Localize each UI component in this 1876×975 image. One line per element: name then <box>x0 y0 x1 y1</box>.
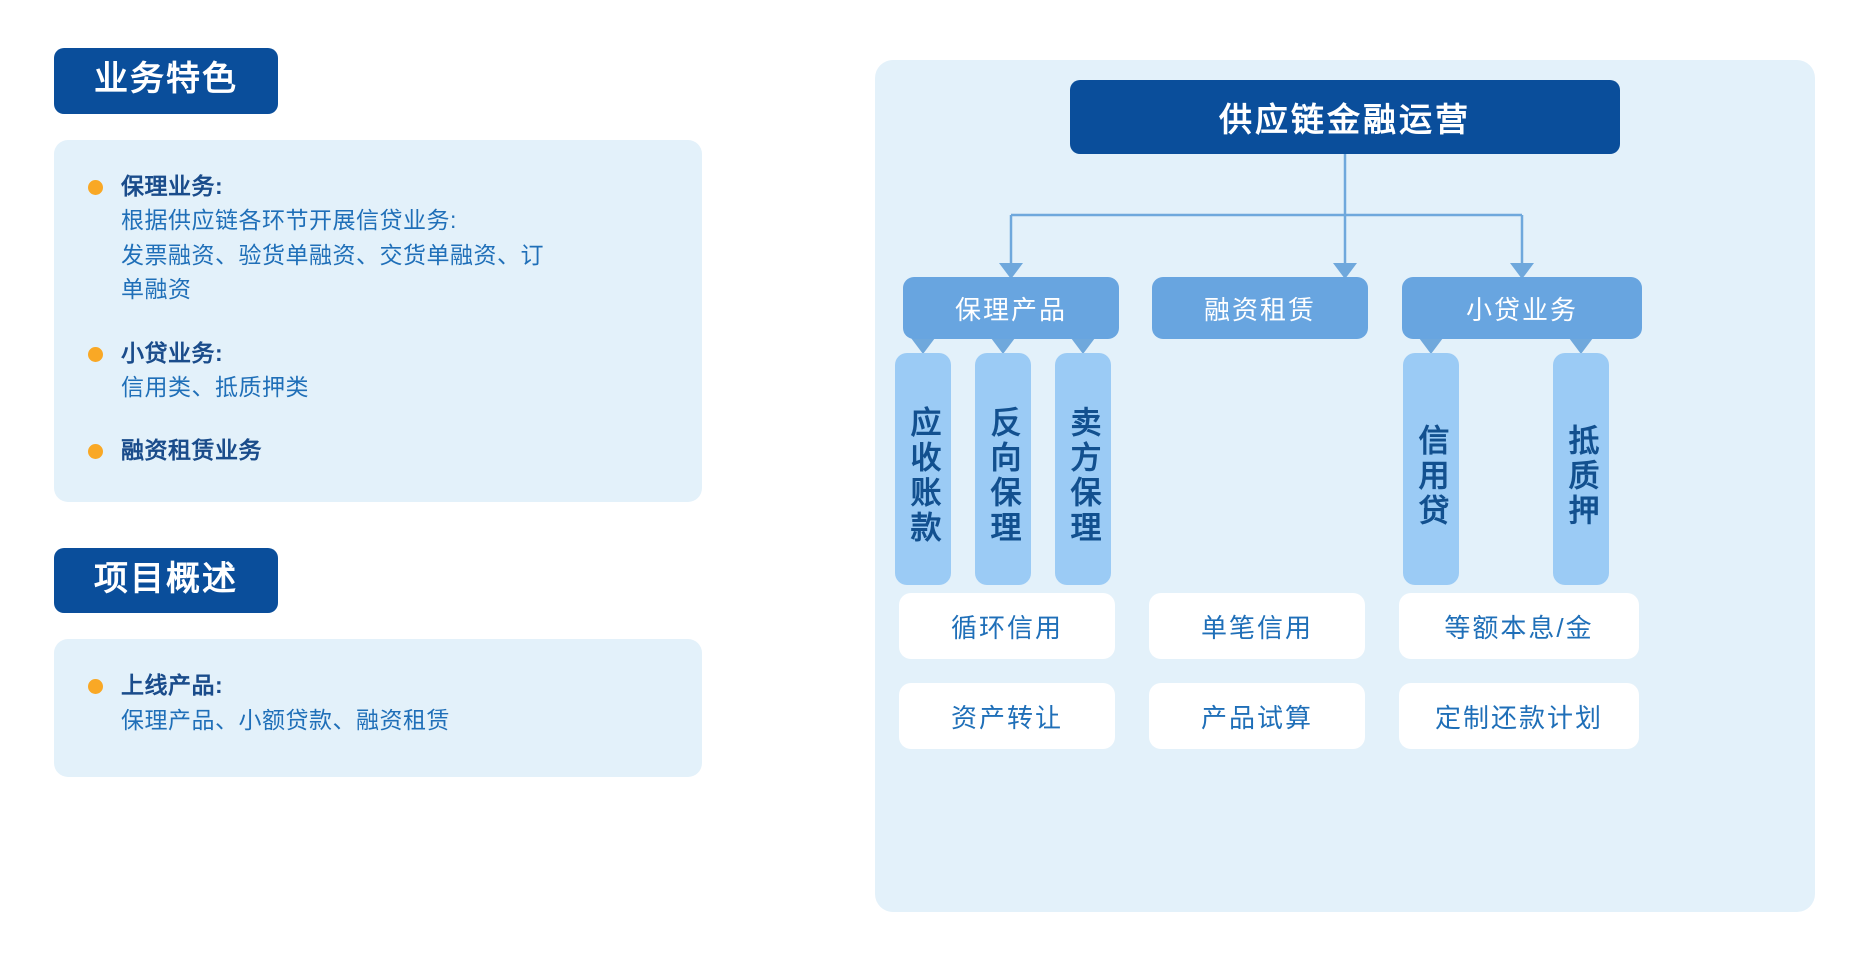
list-item: 融资租赁业务 <box>88 434 668 467</box>
diagram-pill-zichan-zhuanrang[interactable]: 资产转让 <box>899 683 1115 749</box>
diagram-pill-danbi-xinyong[interactable]: 单笔信用 <box>1149 593 1365 659</box>
diagram-node-baoli-chanpin[interactable]: 保理产品 <box>903 277 1119 339</box>
diagram-pill-chanpin-shisuan[interactable]: 产品试算 <box>1149 683 1365 749</box>
list-item: 小贷业务: 信用类、抵质押类 <box>88 337 668 405</box>
bullet-title: 小贷业务: <box>121 337 668 370</box>
bullet-title: 保理业务: <box>121 170 668 203</box>
bullet-dot-icon <box>88 444 103 459</box>
left-column: 业务特色 保理业务: 根据供应链各环节开展信贷业务: 发票融资、验货单融资、交货… <box>54 48 814 777</box>
diagram-node-maifang-baoli[interactable]: 卖方保理 <box>1055 353 1111 585</box>
diagram-node-xiaodai-yewu[interactable]: 小贷业务 <box>1402 277 1642 339</box>
diagram-node-fanxiang-baoli[interactable]: 反向保理 <box>975 353 1031 585</box>
bullet-line: 保理产品、小额贷款、融资租赁 <box>121 703 668 738</box>
diagram-node-dizhiya[interactable]: 抵质押 <box>1553 353 1609 585</box>
overview-block: 项目概述 上线产品: 保理产品、小额贷款、融资租赁 <box>54 548 814 778</box>
bullet-line: 根据供应链各环节开展信贷业务: <box>121 203 668 238</box>
diagram-root-node[interactable]: 供应链金融运营 <box>1070 80 1620 154</box>
bullet-dot-icon <box>88 347 103 362</box>
bullet-line: 单融资 <box>121 272 668 307</box>
diagram-pill-dingzhi-huankuan-jihua[interactable]: 定制还款计划 <box>1399 683 1639 749</box>
overview-card: 上线产品: 保理产品、小额贷款、融资租赁 <box>54 639 702 777</box>
bullet-body: 小贷业务: 信用类、抵质押类 <box>121 337 668 405</box>
features-card: 保理业务: 根据供应链各环节开展信贷业务: 发票融资、验货单融资、交货单融资、订… <box>54 140 702 502</box>
bullet-line: 信用类、抵质押类 <box>121 370 668 405</box>
bullet-title: 上线产品: <box>121 669 668 702</box>
bullet-body: 保理业务: 根据供应链各环节开展信贷业务: 发票融资、验货单融资、交货单融资、订… <box>121 170 668 307</box>
diagram-node-yingshou-zhangkuan[interactable]: 应收账款 <box>895 353 951 585</box>
list-item: 保理业务: 根据供应链各环节开展信贷业务: 发票融资、验货单融资、交货单融资、订… <box>88 170 668 307</box>
diagram-node-xinyong-dai[interactable]: 信用贷 <box>1403 353 1459 585</box>
overview-section-badge: 项目概述 <box>54 548 278 614</box>
bullet-body: 融资租赁业务 <box>121 434 668 467</box>
diagram-pill-xunhuan-xinyong[interactable]: 循环信用 <box>899 593 1115 659</box>
features-section-badge: 业务特色 <box>54 48 278 114</box>
diagram-inner: 供应链金融运营 保理产品 融资租赁 小贷业务 应收账款 反向保理 卖方保理 信用… <box>875 60 1815 912</box>
bullet-line: 发票融资、验货单融资、交货单融资、订 <box>121 238 668 273</box>
bullet-dot-icon <box>88 679 103 694</box>
diagram-panel: 供应链金融运营 保理产品 融资租赁 小贷业务 应收账款 反向保理 卖方保理 信用… <box>875 60 1815 912</box>
bullet-dot-icon <box>88 180 103 195</box>
diagram-node-rongzi-zulin[interactable]: 融资租赁 <box>1152 277 1368 339</box>
list-item: 上线产品: 保理产品、小额贷款、融资租赁 <box>88 669 668 737</box>
diagram-pill-dengebenxi[interactable]: 等额本息/金 <box>1399 593 1639 659</box>
bullet-body: 上线产品: 保理产品、小额贷款、融资租赁 <box>121 669 668 737</box>
features-block: 业务特色 保理业务: 根据供应链各环节开展信贷业务: 发票融资、验货单融资、交货… <box>54 48 814 502</box>
bullet-title: 融资租赁业务 <box>121 434 668 467</box>
